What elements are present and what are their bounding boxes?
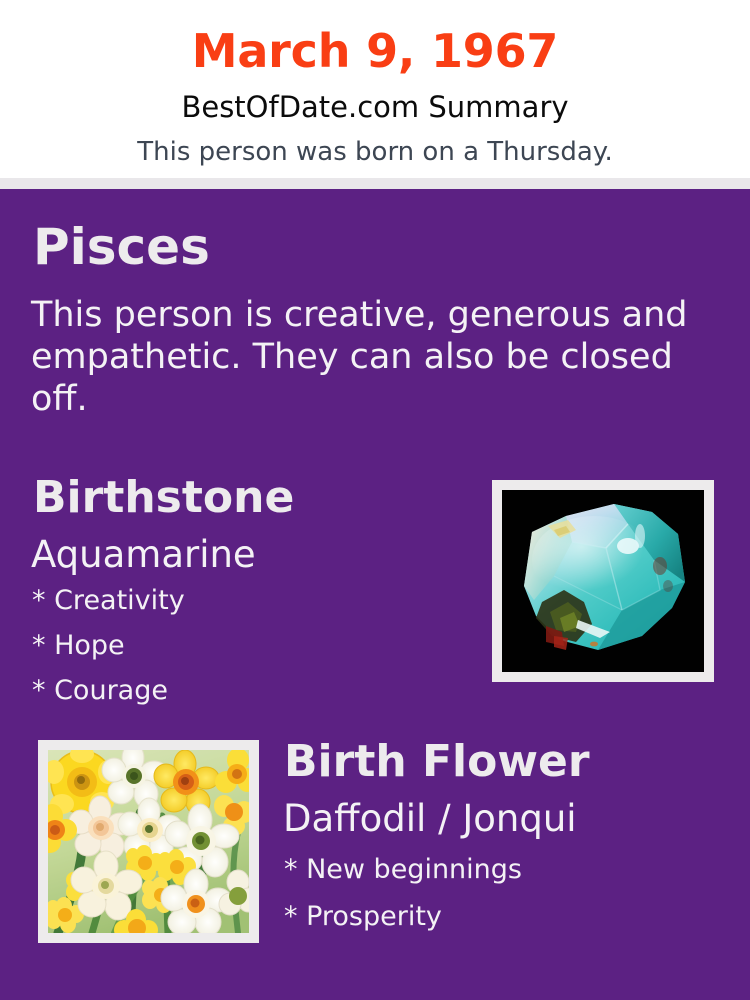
page-title: March 9, 1967 — [0, 0, 750, 74]
birthstone-traits-list: * Creativity * Hope * Courage — [32, 587, 185, 722]
birth-flower-heading: Birth Flower — [284, 740, 590, 784]
site-name-subtitle: BestOfDate.com Summary — [0, 74, 750, 122]
crystal-illustration — [502, 490, 704, 672]
aquamarine-crystal-photo — [502, 490, 704, 672]
zodiac-description: This person is creative, generous and em… — [31, 294, 703, 420]
birthstone-heading: Birthstone — [33, 476, 294, 520]
daffodil-flowers-photo — [48, 750, 249, 933]
list-item: * Prosperity — [284, 903, 522, 930]
zodiac-sign-heading: Pisces — [33, 222, 210, 272]
daffodil-illustration — [48, 750, 249, 933]
born-weekday-text: This person was born on a Thursday. — [0, 122, 750, 165]
birthstone-image-frame — [492, 480, 714, 682]
birthstone-image — [502, 490, 704, 672]
list-item: * Creativity — [32, 587, 185, 614]
summary-card: March 9, 1967 BestOfDate.com Summary Thi… — [0, 0, 750, 1000]
list-item: * Hope — [32, 632, 185, 659]
card-header: March 9, 1967 BestOfDate.com Summary Thi… — [0, 0, 750, 178]
list-item: * Courage — [32, 677, 185, 704]
header-divider — [0, 178, 750, 189]
birth-flower-name: Daffodil / Jonqui — [283, 800, 577, 837]
birth-flower-image-frame — [38, 740, 259, 943]
birth-flower-image — [48, 750, 249, 933]
list-item: * New beginnings — [284, 856, 522, 883]
birth-flower-traits-list: * New beginnings * Prosperity — [284, 856, 522, 950]
card-body: Pisces This person is creative, generous… — [0, 189, 750, 1000]
birthstone-name: Aquamarine — [31, 536, 256, 573]
